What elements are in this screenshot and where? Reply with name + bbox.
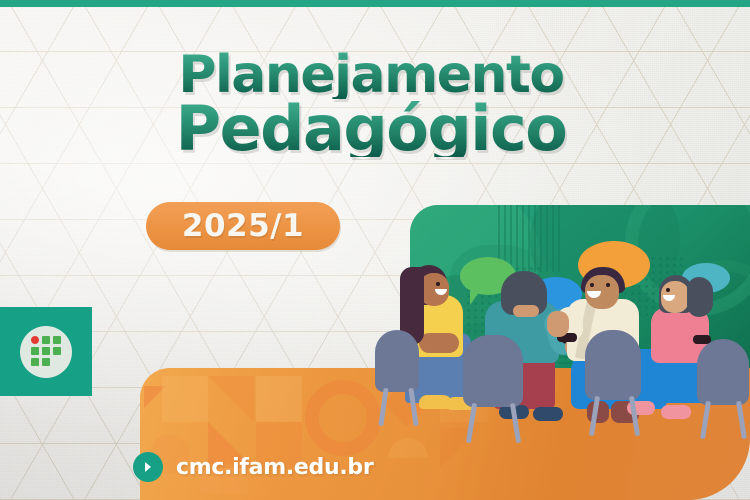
top-accent-bar bbox=[0, 0, 750, 7]
if-logo-square bbox=[31, 358, 39, 366]
person-4-shoe bbox=[661, 405, 691, 419]
chair-back bbox=[375, 330, 419, 392]
chair-back bbox=[585, 330, 641, 400]
person-4-ponytail bbox=[687, 277, 713, 317]
people-illustration bbox=[375, 255, 750, 455]
person-2-shoe bbox=[533, 407, 563, 421]
page-title: Planejamento Pedagógico bbox=[136, 52, 606, 157]
if-logo bbox=[0, 307, 92, 396]
person-1-eye bbox=[436, 282, 440, 286]
chevron-right-icon bbox=[133, 452, 163, 482]
person-4-eye bbox=[666, 288, 670, 292]
person-3-eye bbox=[590, 283, 594, 287]
person-3-eye bbox=[606, 283, 610, 287]
if-logo-accent-dot bbox=[31, 336, 39, 344]
if-logo-square bbox=[42, 336, 50, 344]
person-1-arm bbox=[419, 333, 459, 353]
chair-leg bbox=[700, 401, 711, 439]
chair-leg bbox=[736, 401, 747, 439]
website-link[interactable]: cmc.ifam.edu.br bbox=[133, 452, 373, 482]
website-url-text: cmc.ifam.edu.br bbox=[176, 455, 373, 480]
person-3-hand bbox=[547, 311, 569, 337]
title-line-2: Pedagógico bbox=[136, 101, 606, 157]
if-logo-square bbox=[42, 347, 50, 355]
chair-leg bbox=[378, 388, 388, 426]
person-2-neck bbox=[513, 305, 539, 317]
if-logo-square bbox=[42, 358, 50, 366]
if-logo-square bbox=[53, 347, 61, 355]
if-logo-square bbox=[53, 336, 61, 344]
chair-back bbox=[697, 339, 749, 405]
if-logo-square bbox=[31, 347, 39, 355]
chair-back bbox=[463, 335, 523, 407]
semester-badge-label: 2025/1 bbox=[182, 208, 304, 244]
if-logo-circle bbox=[20, 326, 72, 378]
semester-badge: 2025/1 bbox=[146, 202, 340, 250]
poster-canvas: Planejamento Pedagógico 2025/1 bbox=[0, 0, 750, 500]
